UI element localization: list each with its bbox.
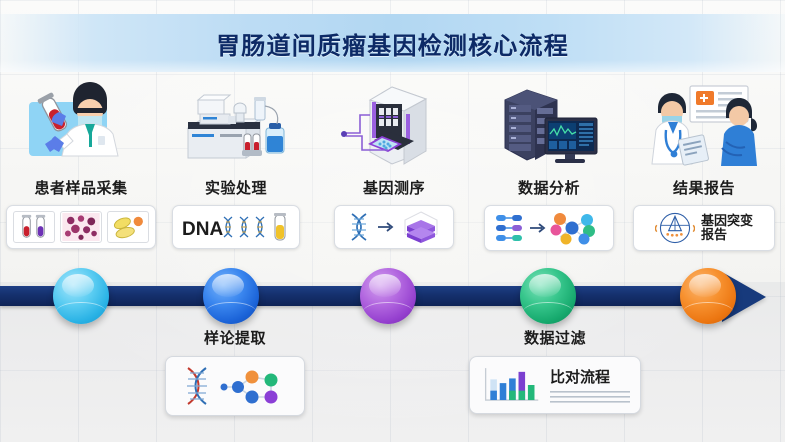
timeline-node-3[interactable]: [360, 268, 416, 324]
bottom-step-label: 样论提取: [204, 327, 266, 348]
infographic-canvas: 胃肠道间质瘤基因检测核心流程: [0, 0, 785, 442]
svg-text:DNA: DNA: [182, 219, 223, 240]
step-label: 基因测序: [363, 177, 425, 198]
bottom-step-sample-extraction[interactable]: 样论提取: [160, 327, 310, 416]
page-title: 胃肠道间质瘤基因检测核心流程: [0, 14, 785, 72]
subcard-data-analysis[interactable]: [484, 205, 614, 251]
bottom-step-label: 数据过滤: [524, 327, 586, 348]
card-label: 比对流程: [550, 366, 630, 387]
subcard-gene-sequencing[interactable]: [334, 205, 454, 249]
subcard-lab-processing[interactable]: DNA: [172, 205, 300, 249]
dna-helix-icon: DNA: [180, 212, 292, 242]
doctor-with-blood-tube-icon: [15, 78, 147, 173]
text-lines-icon: [550, 390, 630, 404]
server-rack-and-monitor-icon: [483, 78, 615, 173]
step-label: 结果报告: [673, 177, 735, 198]
step-data-analysis[interactable]: 数据分析: [470, 78, 628, 251]
step-sample-collection[interactable]: 患者样品采集: [2, 78, 160, 249]
test-tubes-icon: [13, 211, 55, 243]
timeline-node-4[interactable]: [520, 268, 576, 324]
card-sample-extraction[interactable]: [165, 356, 305, 416]
laboratory-bench-icon: [170, 78, 302, 173]
subcard-result-report[interactable]: 基因突变 报告: [633, 205, 775, 251]
gene-circle-diagram-icon: [655, 210, 695, 246]
step-lab-processing[interactable]: 实验处理 DNA: [157, 78, 315, 249]
tissue-cells-icon: [60, 211, 102, 243]
step-gene-sequencing[interactable]: 基因测序: [315, 78, 473, 249]
bar-chart-icon: [480, 364, 542, 406]
step-label: 数据分析: [518, 177, 580, 198]
step-label: 患者样品采集: [34, 177, 127, 198]
timeline-node-5[interactable]: [680, 268, 736, 324]
subcard-label: 基因突变 报告: [701, 214, 753, 243]
specimen-sample-icon: [107, 211, 149, 243]
card-data-filtering[interactable]: 比对流程: [469, 356, 641, 414]
network-transform-icon: [492, 210, 606, 246]
dna-to-data-stack-icon: [342, 210, 446, 244]
step-result-report[interactable]: 结果报告 基因突变 报告: [625, 78, 783, 251]
timeline-node-1[interactable]: [53, 268, 109, 324]
bottom-step-data-filtering[interactable]: 数据过滤 比对流程: [470, 327, 640, 414]
dna-sequencer-machine-icon: [328, 78, 460, 173]
dna-network-icon: [176, 364, 294, 408]
doctor-patient-consultation-icon: [638, 78, 770, 173]
subcard-sample-collection[interactable]: [6, 205, 156, 249]
top-steps-row: 患者样品采集: [0, 78, 785, 268]
timeline: [0, 280, 785, 314]
step-label: 实验处理: [205, 177, 267, 198]
timeline-node-2[interactable]: [203, 268, 259, 324]
